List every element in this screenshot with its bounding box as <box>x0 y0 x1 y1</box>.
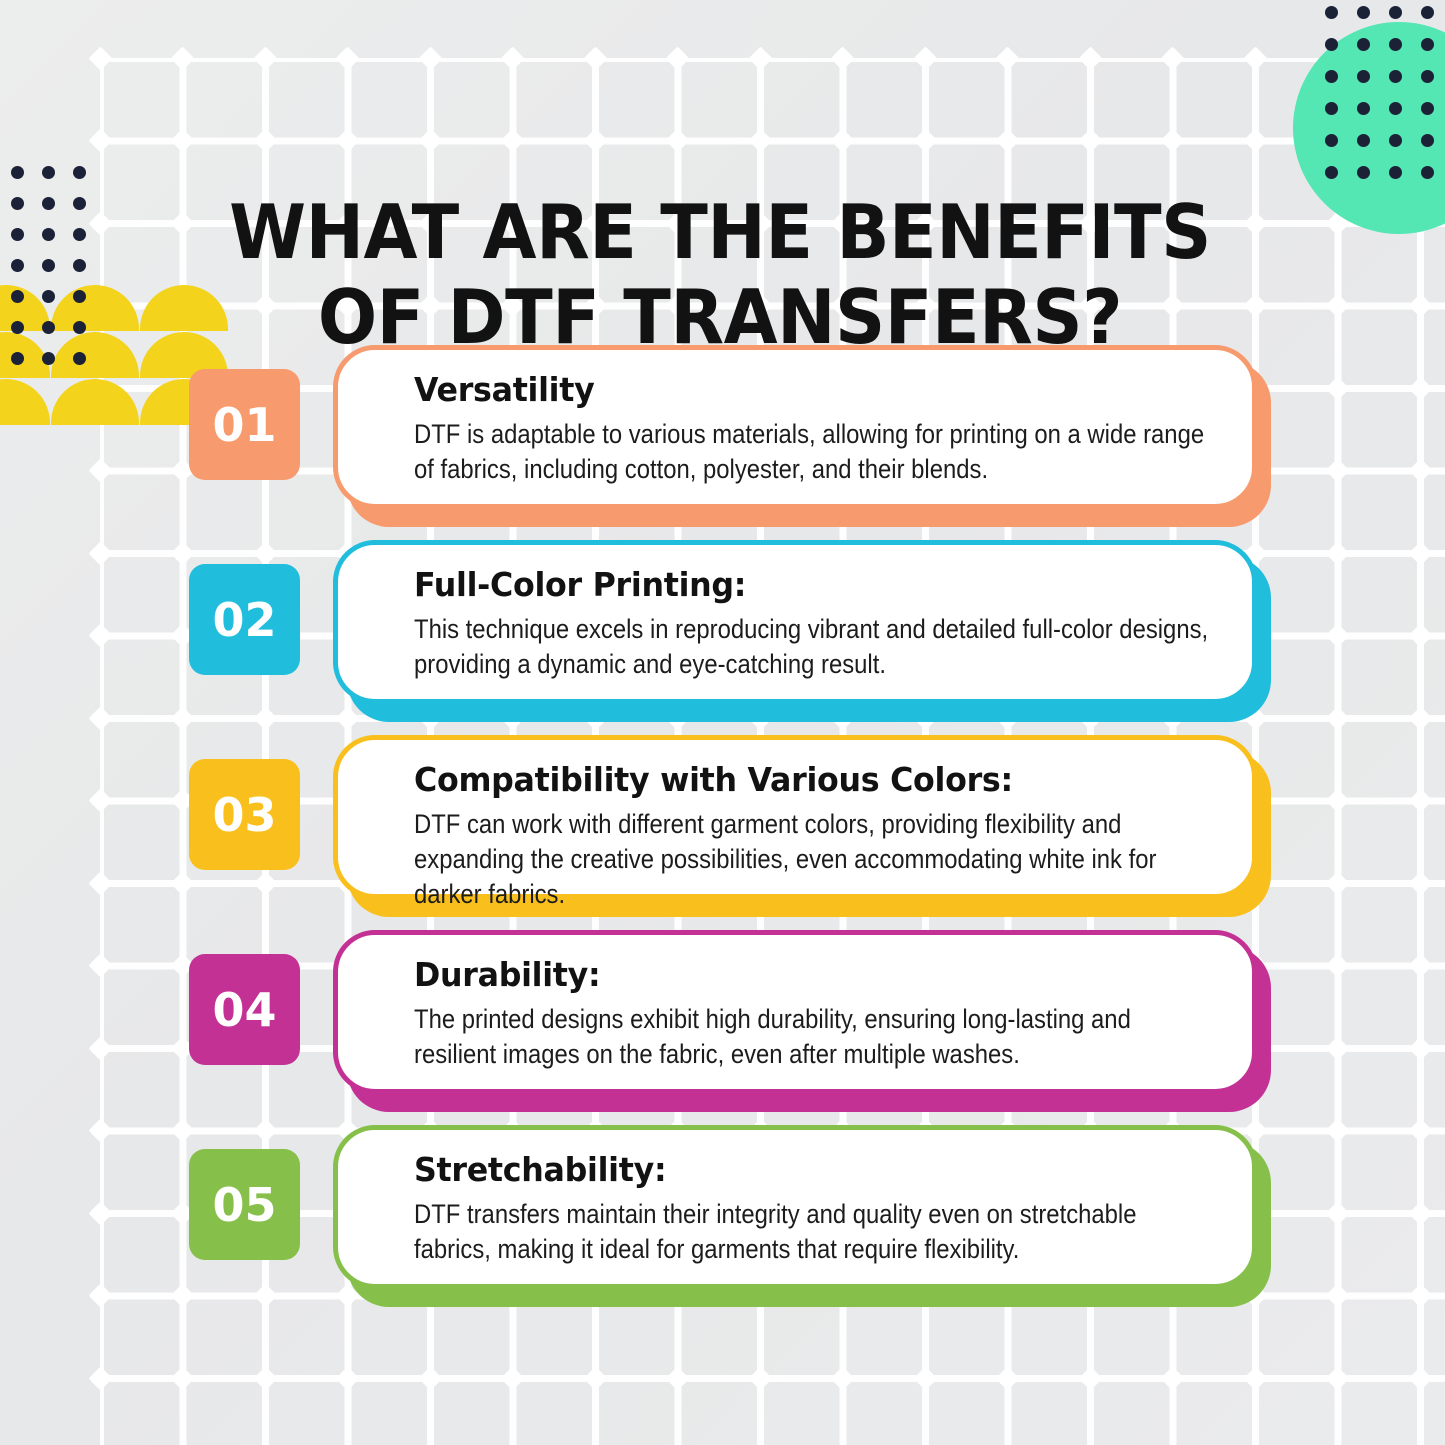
benefit-row: 04Durability:The printed designs exhibit… <box>0 926 1445 1121</box>
decorative-dot-icon <box>11 228 24 241</box>
benefit-card[interactable]: Durability:The printed designs exhibit h… <box>333 930 1257 1100</box>
benefit-number-label: 04 <box>212 983 276 1037</box>
decorative-dot-icon <box>73 197 86 210</box>
benefit-heading: Stretchability: <box>414 1150 1186 1189</box>
benefit-number-badge[interactable]: 02 <box>189 564 300 675</box>
decorative-dot-icon <box>1389 134 1402 147</box>
benefit-number-label: 01 <box>212 398 276 452</box>
decorative-dot-icon <box>1325 166 1338 179</box>
benefit-row: 01VersatilityDTF is adaptable to various… <box>0 341 1445 536</box>
benefit-description: This technique excels in reproducing vib… <box>414 612 1217 682</box>
decorative-dot-icon <box>42 259 55 272</box>
benefit-number-label: 05 <box>212 1178 276 1232</box>
benefit-card-body: VersatilityDTF is adaptable to various m… <box>333 345 1257 509</box>
decorative-dot-icon <box>1389 6 1402 19</box>
decorative-dot-icon <box>1325 102 1338 115</box>
decorative-dot-icon <box>73 228 86 241</box>
decorative-dot-icon <box>42 197 55 210</box>
decorative-dot-icon <box>1325 38 1338 51</box>
decorative-dot-icon <box>11 259 24 272</box>
benefit-card[interactable]: VersatilityDTF is adaptable to various m… <box>333 345 1257 515</box>
benefits-list: 01VersatilityDTF is adaptable to various… <box>0 341 1445 1321</box>
benefit-row: 02Full-Color Printing:This technique exc… <box>0 536 1445 731</box>
decorative-dot-icon <box>42 290 55 303</box>
decorative-dot-icon <box>1325 134 1338 147</box>
decorative-dot-icon <box>11 166 24 179</box>
decorative-dot-icon <box>1421 166 1434 179</box>
benefit-card-body: Compatibility with Various Colors:DTF ca… <box>333 735 1257 899</box>
decorative-dot-icon <box>1325 70 1338 83</box>
decorative-dot-icon <box>1421 134 1434 147</box>
decorative-dot-icon <box>1357 70 1370 83</box>
decorative-dot-icon <box>1325 6 1338 19</box>
decorative-dot-icon <box>1421 6 1434 19</box>
decorative-dot-icon <box>42 228 55 241</box>
benefit-card[interactable]: Stretchability:DTF transfers maintain th… <box>333 1125 1257 1295</box>
benefit-number-badge[interactable]: 04 <box>189 954 300 1065</box>
decorative-dot-icon <box>1389 102 1402 115</box>
decorative-dot-icon <box>1421 38 1434 51</box>
benefit-description: The printed designs exhibit high durabil… <box>414 1002 1217 1072</box>
benefit-card[interactable]: Compatibility with Various Colors:DTF ca… <box>333 735 1257 905</box>
benefit-number-label: 03 <box>212 788 276 842</box>
page-title: WHAT ARE THE BENEFITS OF DTF TRANSFERS? <box>213 190 1227 360</box>
benefit-card-body: Durability:The printed designs exhibit h… <box>333 930 1257 1094</box>
benefit-heading: Durability: <box>414 955 1186 994</box>
benefit-description: DTF can work with different garment colo… <box>414 807 1217 913</box>
decorative-dot-icon <box>1421 102 1434 115</box>
benefit-card-body: Full-Color Printing:This technique excel… <box>333 540 1257 704</box>
infographic-canvas: WHAT ARE THE BENEFITS OF DTF TRANSFERS? … <box>0 0 1445 1445</box>
benefit-number-badge[interactable]: 01 <box>189 369 300 480</box>
decorative-dot-icon <box>1357 6 1370 19</box>
decorative-dot-icon <box>11 321 24 334</box>
decorative-dot-icon <box>1357 102 1370 115</box>
decorative-dot-icon <box>1357 166 1370 179</box>
decorative-dot-icon <box>73 259 86 272</box>
benefit-row: 03Compatibility with Various Colors:DTF … <box>0 731 1445 926</box>
benefit-description: DTF is adaptable to various materials, a… <box>414 417 1217 487</box>
benefit-heading: Versatility <box>414 370 1186 409</box>
benefit-number-badge[interactable]: 05 <box>189 1149 300 1260</box>
decorative-dot-icon <box>1421 70 1434 83</box>
benefit-description: DTF transfers maintain their integrity a… <box>414 1197 1217 1267</box>
decorative-dot-icon <box>73 290 86 303</box>
benefit-card-body: Stretchability:DTF transfers maintain th… <box>333 1125 1257 1289</box>
benefit-row: 05Stretchability:DTF transfers maintain … <box>0 1121 1445 1321</box>
decorative-dot-icon <box>42 166 55 179</box>
decorative-dot-icon <box>73 166 86 179</box>
benefit-number-label: 02 <box>212 593 276 647</box>
decorative-dot-icon <box>1389 166 1402 179</box>
decorative-dot-icon <box>73 321 86 334</box>
decorative-dot-icon <box>1389 38 1402 51</box>
decorative-dot-icon <box>11 290 24 303</box>
decorative-dot-icon <box>1357 38 1370 51</box>
benefit-number-badge[interactable]: 03 <box>189 759 300 870</box>
decorative-dot-icon <box>1389 70 1402 83</box>
benefit-heading: Compatibility with Various Colors: <box>414 760 1186 799</box>
decorative-dot-icon <box>1357 134 1370 147</box>
benefit-heading: Full-Color Printing: <box>414 565 1186 604</box>
decorative-dot-icon <box>11 197 24 210</box>
decorative-dot-icon <box>42 321 55 334</box>
benefit-card[interactable]: Full-Color Printing:This technique excel… <box>333 540 1257 710</box>
